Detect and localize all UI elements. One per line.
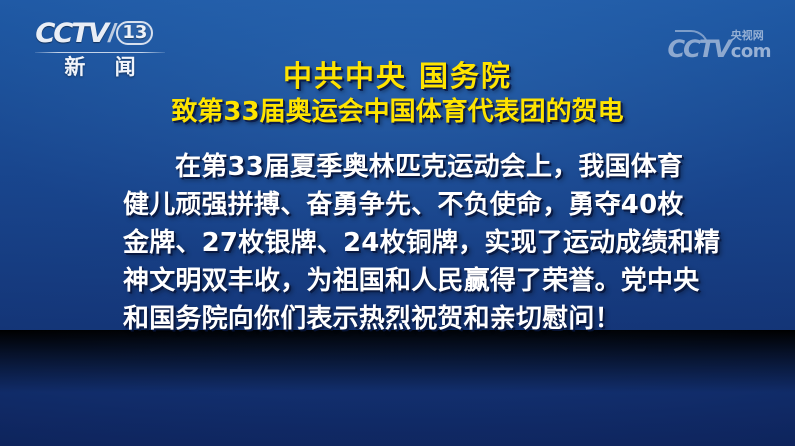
headline-secondary-line: 致第33届奥运会中国体育代表团的贺电 xyxy=(0,96,795,130)
logo-wordmark-row: CCTV / 13 xyxy=(32,16,172,50)
watermark-text-stack: 央视网 com xyxy=(731,30,771,61)
body-line: 神文明双丰收，为祖国和人民赢得了荣誉。党中央 xyxy=(123,262,673,300)
body-line: 健儿顽强拼搏、奋勇争先、不负使命，勇夺40枚 xyxy=(123,186,673,224)
headline-primary-line: 中共中央 国务院 xyxy=(0,58,795,94)
channel-number-badge: 13 xyxy=(116,21,153,45)
watermark-chinese-label: 央视网 xyxy=(731,30,764,42)
watermark-cctv-wordmark: CCTV xyxy=(668,37,730,61)
body-line: 金牌、27枚银牌、24枚铜牌，实现了运动成绩和精 xyxy=(123,224,673,262)
headline-block: 中共中央 国务院 致第33届奥运会中国体育代表团的贺电 xyxy=(0,58,795,130)
logo-divider-rule xyxy=(35,52,165,53)
broadcast-slate: CCTV / 13 新 闻 CCTV 央视网 com 中共中央 国务院 致第33… xyxy=(0,0,795,446)
body-line: 在第33届夏季奥林匹克运动会上，我国体育 xyxy=(123,148,673,186)
telegram-body-text: 在第33届夏季奥林匹克运动会上，我国体育 健儿顽强拼搏、奋勇争先、不负使命，勇夺… xyxy=(123,148,673,338)
body-line: 和国务院向你们表示热烈祝贺和亲切慰问！ xyxy=(123,300,673,338)
cctv-com-watermark: CCTV 央视网 com xyxy=(668,30,771,61)
cctv-wordmark: CCTV xyxy=(35,20,107,47)
logo-separator-icon: / xyxy=(108,20,115,46)
